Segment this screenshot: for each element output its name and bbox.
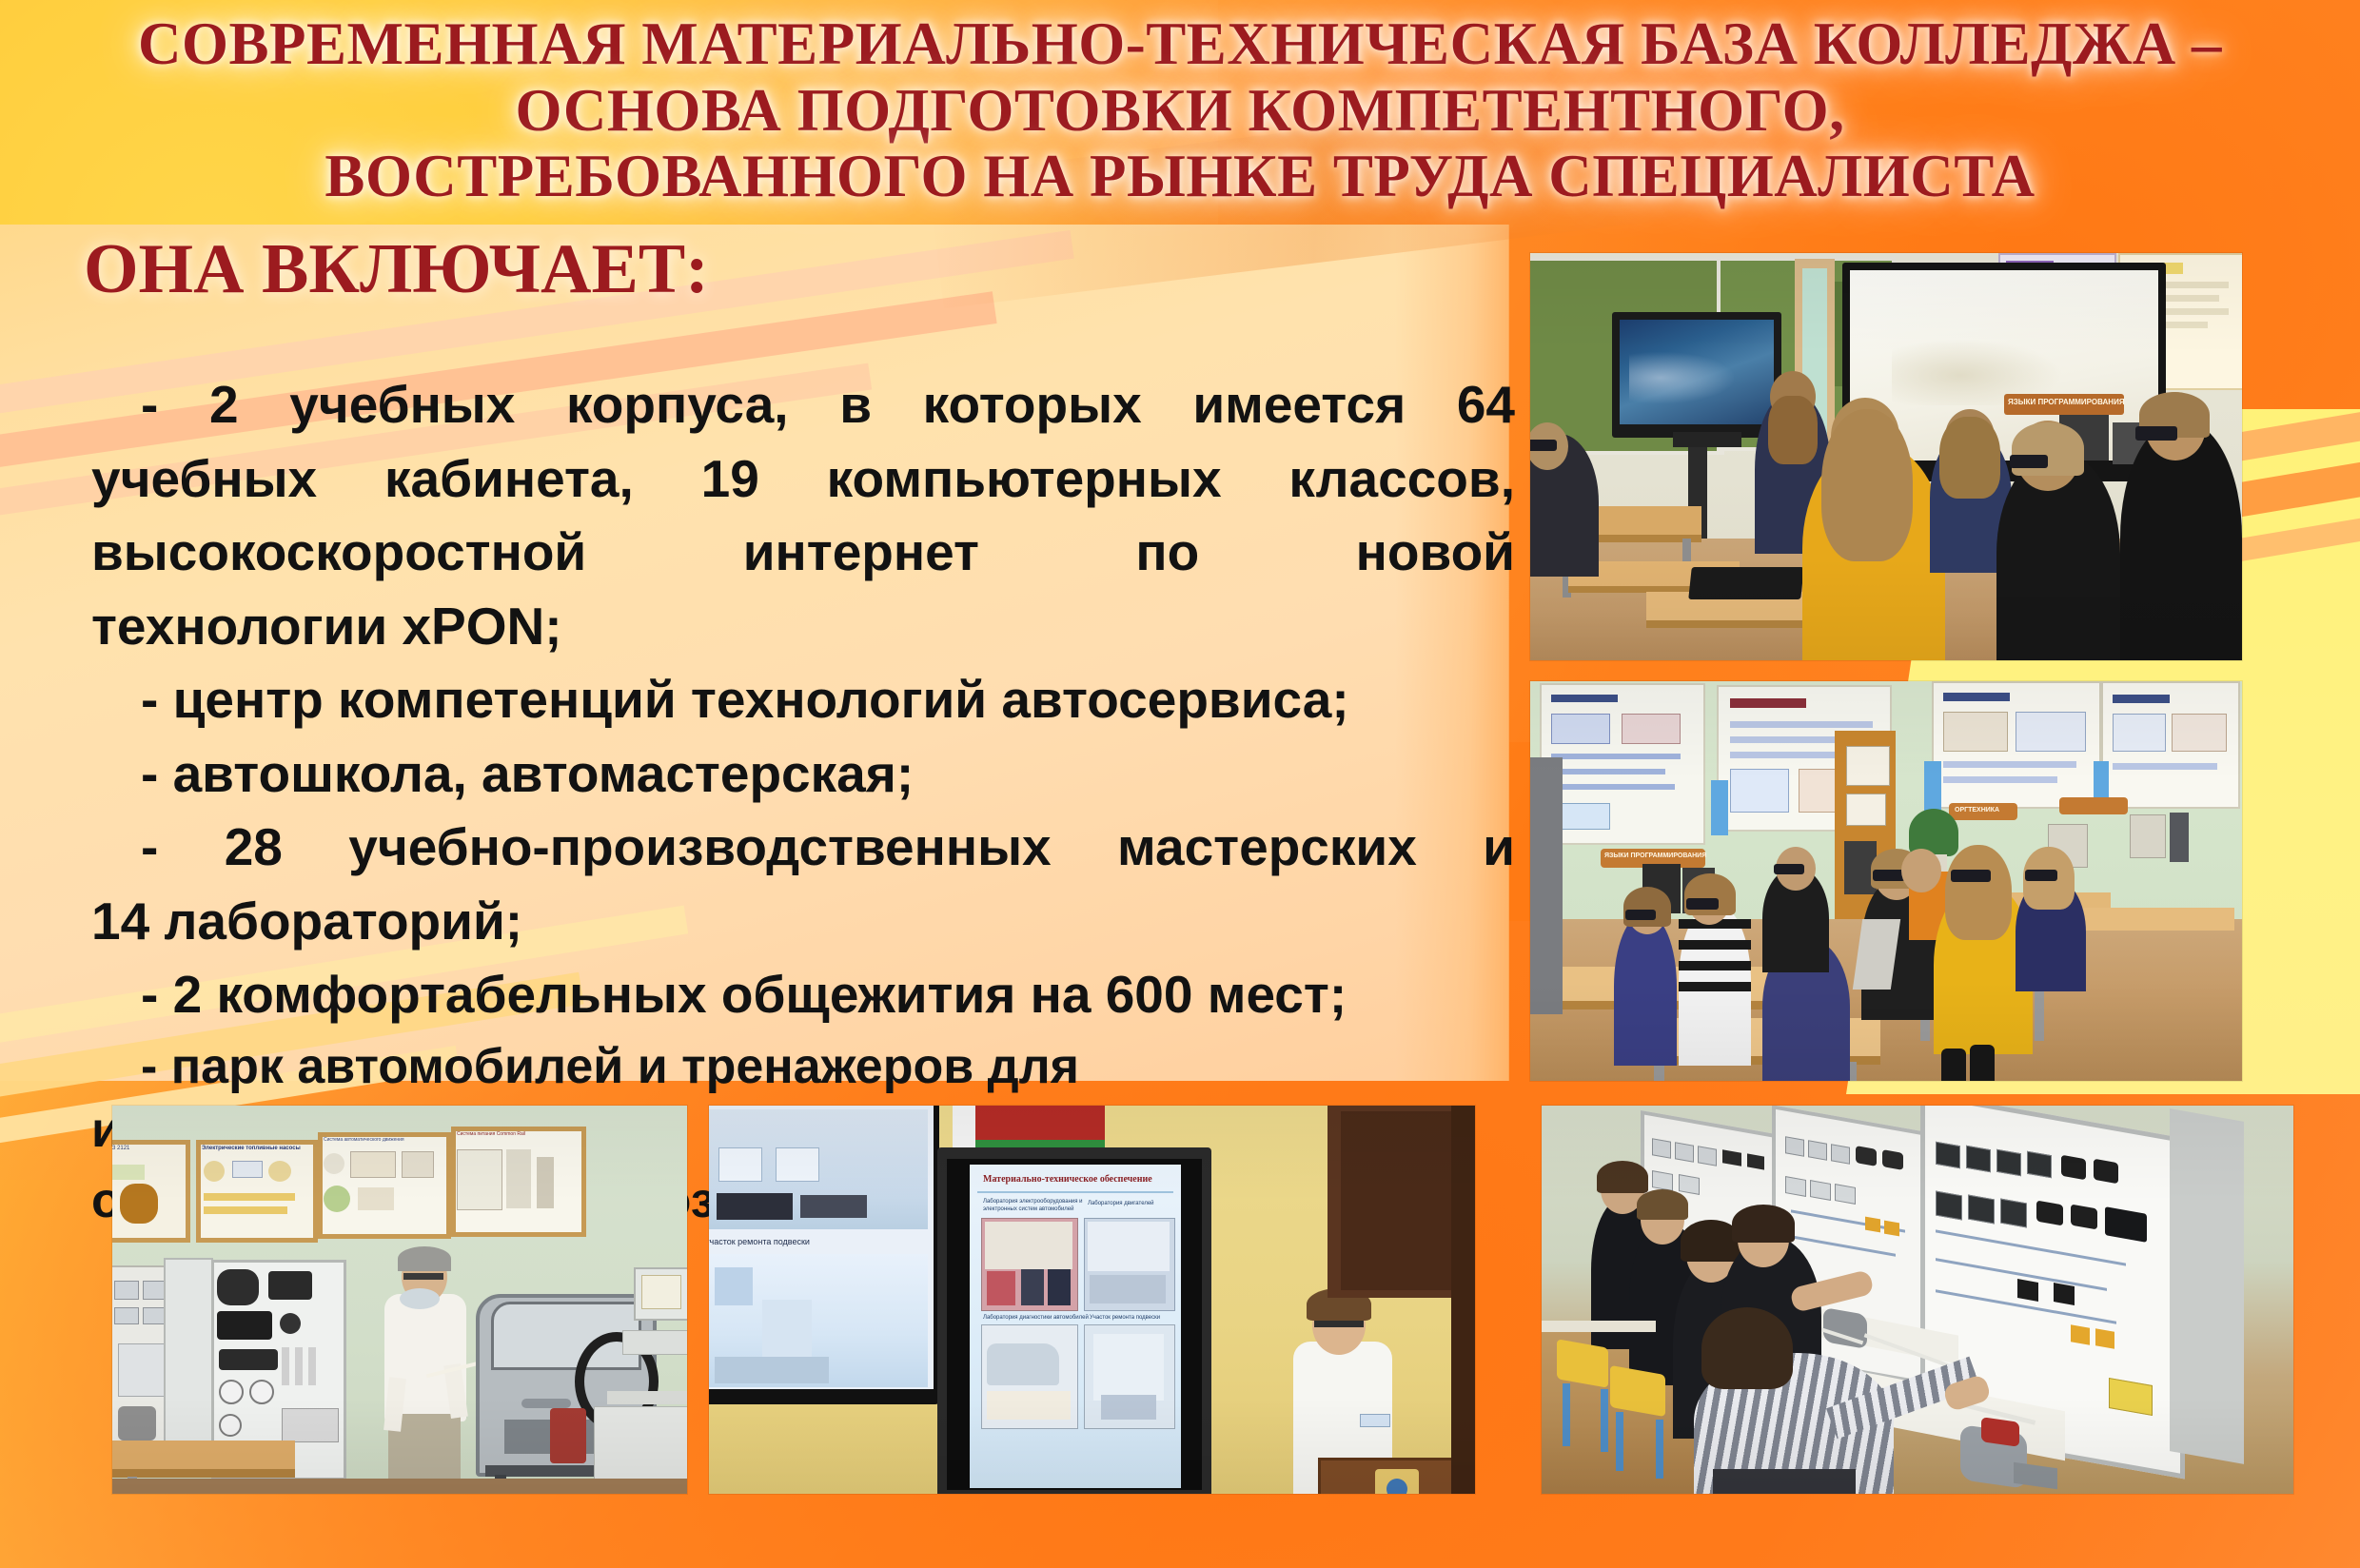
title-line-3: ВОСТРЕБОВАННОГО НА РЫНКЕ ТРУДА СПЕЦИАЛИС… xyxy=(0,146,2360,208)
body-line-2-text: учебных кабинета, 19 компьютерных классо… xyxy=(91,449,1515,508)
body-line-4: технологии хPON; xyxy=(91,593,1515,661)
poster-root: СОВРЕМЕННАЯ МАТЕРИАЛЬНО-ТЕХНИЧЕСКАЯ БАЗА… xyxy=(0,0,2360,1568)
body-line-1-text: - 2 учебных корпуса, в которых имеется 6… xyxy=(141,375,1515,434)
wall-sign-label: ЯЗЫКИ ПРОГРАММИРОВАНИЯ xyxy=(2008,398,2125,406)
body-line-5: - центр компетенций технологий автосерви… xyxy=(91,666,1515,735)
photo-classroom-students: ЯЗЫКИ ПРОГРАММИРОВАНИЯ ОРГТЕХНИКА xyxy=(1530,681,2242,1081)
poster-subtitle: ОНА ВКЛЮЧАЕТ: xyxy=(84,234,709,304)
body-line-1: - 2 учебных корпуса, в которых имеется 6… xyxy=(91,371,1515,440)
photo-presentation-hall: участок ремонта подвески Материально-тех… xyxy=(709,1106,1475,1494)
title-line-2: ОСНОВА ПОДГОТОВКИ КОМПЕТЕНТНОГО, xyxy=(0,80,2360,143)
wall-sign-label-3: ОРГТЕХНИКА xyxy=(1955,807,1999,813)
body-line-3-text: высокоскоростной интернет по новой xyxy=(91,522,1515,581)
photo-classroom-3d-lesson: ЯЗЫКИ ПРОГРАММИРОВАНИЯ xyxy=(1530,253,2242,660)
body-line-5-text: - центр компетенций технологий автосерви… xyxy=(141,670,1349,729)
body-line-4-text: технологии хPON; xyxy=(91,597,562,656)
poster-label-2: Электрические топливные насосы xyxy=(202,1146,301,1151)
body-line-7: - 28 учебно-производственных мастерских … xyxy=(91,813,1515,882)
body-line-8-text: 14 лабораторий; xyxy=(91,892,522,951)
title-line-1: СОВРЕМЕННАЯ МАТЕРИАЛЬНО-ТЕХНИЧЕСКАЯ БАЗА… xyxy=(0,13,2360,76)
body-line-9-text: - 2 комфортабельных общежития на 600 мес… xyxy=(141,965,1347,1024)
body-line-2: учебных кабинета, 19 компьютерных классо… xyxy=(91,445,1515,514)
body-line-9: - 2 комфортабельных общежития на 600 мес… xyxy=(91,961,1515,1029)
slide-caption-left: участок ремонта подвески xyxy=(709,1237,810,1246)
wall-sign-label-2: ЯЗЫКИ ПРОГРАММИРОВАНИЯ xyxy=(1604,853,1706,859)
body-line-6-text: - автошкола, автомастерская; xyxy=(141,744,914,803)
body-line-6: - автошкола, автомастерская; xyxy=(91,740,1515,809)
body-line-7-text: - 28 учебно-производственных мастерских … xyxy=(141,817,1515,876)
poster-title: СОВРЕМЕННАЯ МАТЕРИАЛЬНО-ТЕХНИЧЕСКАЯ БАЗА… xyxy=(0,13,2360,208)
body-line-8: 14 лабораторий; xyxy=(91,888,1515,956)
slide-title: Материально-техническое обеспечение xyxy=(983,1174,1152,1185)
photo-automotive-lab: ВАЗ 2121 Электрические топливные насосы … xyxy=(112,1106,687,1494)
photo-electrical-training-stands xyxy=(1542,1106,2293,1494)
poster-label-1: ВАЗ 2121 xyxy=(112,1146,129,1151)
body-line-3: высокоскоростной интернет по новой xyxy=(91,519,1515,587)
